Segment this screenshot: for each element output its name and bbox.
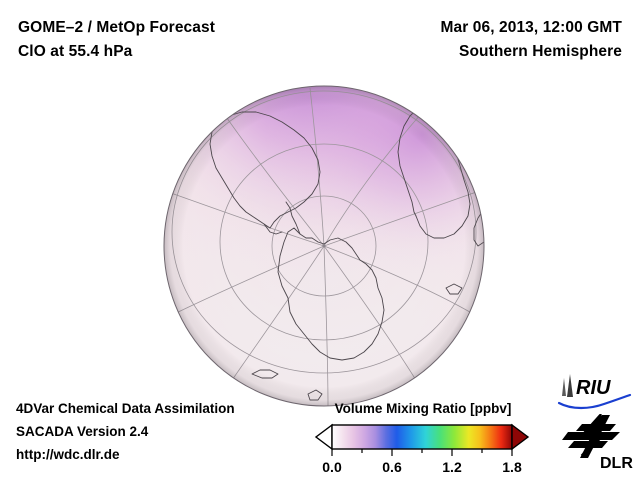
- hemisphere-label: Southern Hemisphere: [440, 40, 622, 64]
- colorbar-high-cap: [512, 425, 528, 449]
- colorbar-tick-labels: 0.0 0.6 1.2 1.8: [322, 459, 522, 475]
- riu-tower-icon: [562, 374, 573, 397]
- footer-version-label: SACADA Version 2.4: [16, 420, 235, 443]
- colorbar-gradient: [332, 425, 512, 449]
- colorbar-title: Volume Mixing Ratio [ppbv]: [312, 400, 534, 418]
- page-subtitle-species-level: ClO at 55.4 hPa: [18, 40, 215, 64]
- south-pole-marker: [323, 245, 326, 248]
- footer-info-block: 4DVar Chemical Data Assimilation SACADA …: [16, 397, 235, 466]
- colorbar-tick-2: 1.2: [442, 459, 462, 475]
- colorbar-svg: 0.0 0.6 1.2 1.8: [312, 422, 534, 478]
- dlr-mark-icon: [562, 415, 620, 458]
- dlr-logo: DLR: [560, 414, 636, 474]
- dlr-logo-svg: DLR: [560, 414, 636, 474]
- header-right-block: Mar 06, 2013, 12:00 GMT Southern Hemisph…: [440, 16, 622, 64]
- colorbar-tick-0: 0.0: [322, 459, 342, 475]
- colorbar-tick-3: 1.8: [502, 459, 522, 475]
- riu-logo: RIU: [556, 372, 634, 412]
- footer-method-label: 4DVar Chemical Data Assimilation: [16, 397, 235, 420]
- globe-svg: [160, 82, 488, 410]
- riu-logo-svg: RIU: [556, 372, 634, 412]
- colorbar-tick-1: 0.6: [382, 459, 402, 475]
- globe-map: [160, 82, 488, 410]
- dlr-wordmark: DLR: [600, 455, 633, 472]
- header-left-block: GOME–2 / MetOp Forecast ClO at 55.4 hPa: [18, 16, 215, 64]
- colorbar-ticks: [332, 449, 512, 456]
- colorbar-low-cap: [316, 425, 332, 449]
- footer-url-link[interactable]: http://wdc.dlr.de: [16, 443, 235, 466]
- colorbar-block: Volume Mixing Ratio [ppbv]: [312, 400, 534, 478]
- timestamp-label: Mar 06, 2013, 12:00 GMT: [440, 16, 622, 40]
- page-title: GOME–2 / MetOp Forecast: [18, 16, 215, 40]
- riu-wordmark: RIU: [576, 377, 611, 399]
